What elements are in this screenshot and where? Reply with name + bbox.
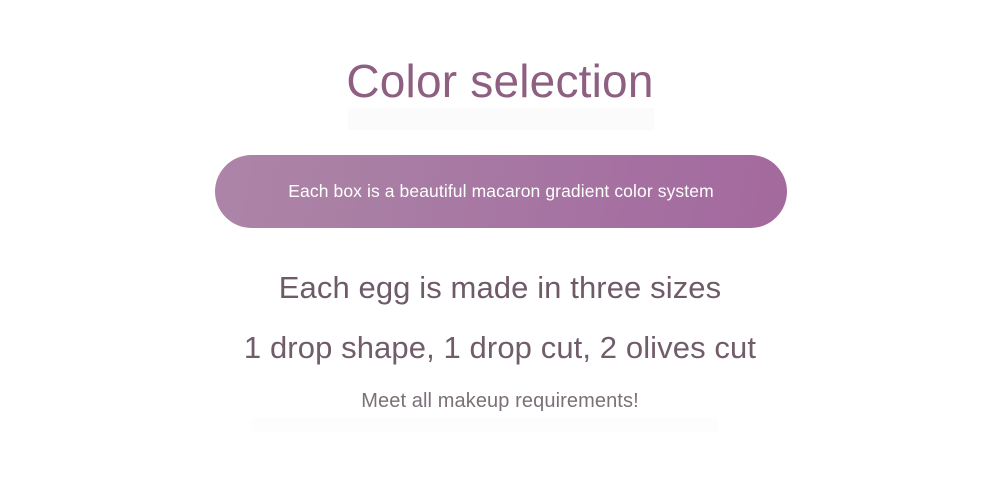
- bottom-backdrop-haze: [252, 418, 718, 432]
- detail-line-sizes: Each egg is made in three sizes: [0, 270, 1000, 306]
- color-selection-promo-panel: Color selection Each box is a beautiful …: [0, 0, 1000, 488]
- detail-line-footnote: Meet all makeup requirements!: [0, 390, 1000, 413]
- gradient-banner-pill: Each box is a beautiful macaron gradient…: [215, 155, 787, 228]
- title-backdrop-haze: [348, 108, 654, 130]
- gradient-banner-label: Each box is a beautiful macaron gradient…: [288, 183, 714, 201]
- detail-line-shapes: 1 drop shape, 1 drop cut, 2 olives cut: [0, 330, 1000, 366]
- page-title: Color selection: [0, 56, 1000, 107]
